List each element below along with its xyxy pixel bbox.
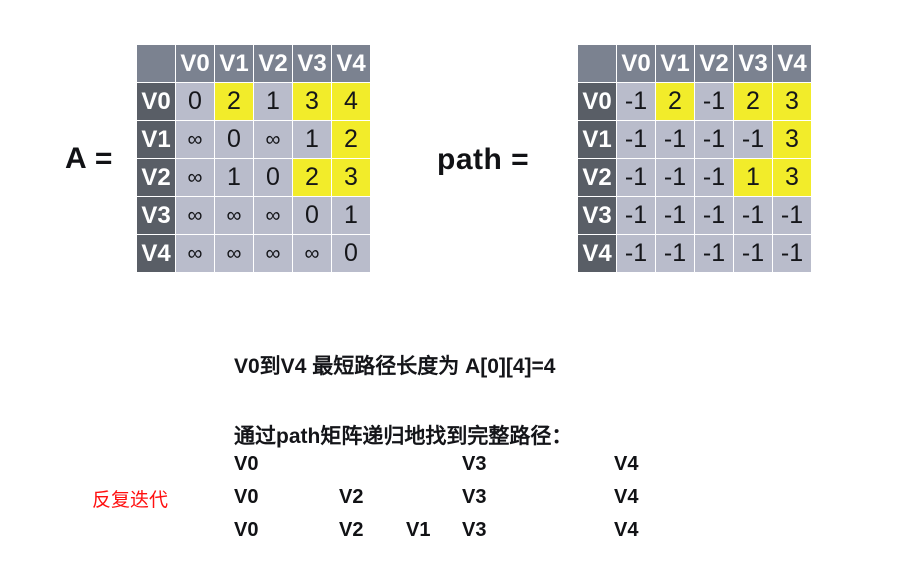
matrix-row-header-v3: V3 [137,197,175,234]
matrix-row: V2∞1023 [137,159,370,196]
path-node-v0: V0 [234,486,258,509]
matrix-row: V3-1-1-1-1-1 [578,197,811,234]
matrix-col-header-v0: V0 [176,45,214,82]
matrix-cell-1-4: 2 [332,121,370,158]
matrix-cell-2-1: -1 [656,159,694,196]
path-node-v2: V2 [339,486,363,509]
path-node-v3: V3 [462,486,486,509]
matrix-cell-3-4: 1 [332,197,370,234]
matrix-row-header-v4: V4 [137,235,175,272]
matrix-cell-2-4: 3 [773,159,811,196]
matrix-row: V1∞0∞12 [137,121,370,158]
matrix-cell-1-3: 1 [293,121,331,158]
path-expansion-row: V0V2V1V3V4 [234,519,674,552]
red-annotation: 反复迭代 [92,485,168,512]
matrix-cell-0-1: 2 [215,83,253,120]
path-node-v0: V0 [234,519,258,542]
matrix-cell-4-4: -1 [773,235,811,272]
matrix-cell-2-3: 2 [293,159,331,196]
matrix-cell-0-1: 2 [656,83,694,120]
matrix-cell-2-0: ∞ [176,159,214,196]
matrix-row: V1-1-1-1-13 [578,121,811,158]
matrix-cell-3-0: -1 [617,197,655,234]
shortest-path-note: V0到V4 最短路径长度为 A[0][4]=4 [234,350,555,380]
matrix-col-header-v1: V1 [215,45,253,82]
matrix-row: V3∞∞∞01 [137,197,370,234]
path-node-v3: V3 [462,519,486,542]
matrix-cell-4-3: -1 [734,235,772,272]
matrix-cell-4-4: 0 [332,235,370,272]
matrix-row-header-v2: V2 [578,159,616,196]
path-node-v3: V3 [462,453,486,476]
matrix-cell-1-1: 0 [215,121,253,158]
path-node-v4: V4 [614,453,638,476]
matrix-cell-0-2: -1 [695,83,733,120]
matrix-row-header-v0: V0 [137,83,175,120]
matrix-cell-3-3: -1 [734,197,772,234]
matrix-row-header-v2: V2 [137,159,175,196]
matrix-cell-0-4: 3 [773,83,811,120]
matrix-row: V4∞∞∞∞0 [137,235,370,272]
matrix-cell-0-3: 2 [734,83,772,120]
matrix-cell-4-2: -1 [695,235,733,272]
matrix-cell-4-0: ∞ [176,235,214,272]
matrix-col-header-v4: V4 [773,45,811,82]
matrix-col-header-v3: V3 [734,45,772,82]
matrix-cell-3-2: -1 [695,197,733,234]
matrix-col-header-v2: V2 [695,45,733,82]
matrix-cell-2-2: -1 [695,159,733,196]
matrix-cell-3-3: 0 [293,197,331,234]
path-node-v4: V4 [614,486,638,509]
matrix-col-header-v0: V0 [617,45,655,82]
path-expansion-row: V0V2V3V4 [234,486,674,519]
path-node-v1: V1 [406,519,430,542]
matrix-a: V0V1V2V3V4V002134V1∞0∞12V2∞1023V3∞∞∞01V4… [136,44,371,273]
matrix-corner-cell [578,45,616,82]
matrix-col-header-v2: V2 [254,45,292,82]
matrix-row-header-v1: V1 [578,121,616,158]
matrix-row: V002134 [137,83,370,120]
matrix-cell-4-0: -1 [617,235,655,272]
matrix-cell-0-4: 4 [332,83,370,120]
matrix-cell-3-1: ∞ [215,197,253,234]
path-node-v0: V0 [234,453,258,476]
matrix-a-table: V0V1V2V3V4V002134V1∞0∞12V2∞1023V3∞∞∞01V4… [136,44,371,273]
matrix-col-header-v1: V1 [656,45,694,82]
matrix-cell-3-0: ∞ [176,197,214,234]
matrix-corner-cell [137,45,175,82]
matrix-cell-4-2: ∞ [254,235,292,272]
matrix-cell-2-1: 1 [215,159,253,196]
path-node-v2: V2 [339,519,363,542]
matrix-cell-3-2: ∞ [254,197,292,234]
matrix-cell-1-0: ∞ [176,121,214,158]
matrix-cell-1-0: -1 [617,121,655,158]
matrix-header-row: V0V1V2V3V4 [137,45,370,82]
matrix-row: V0-12-123 [578,83,811,120]
matrix-cell-1-4: 3 [773,121,811,158]
path-node-v4: V4 [614,519,638,542]
matrix-cell-2-2: 0 [254,159,292,196]
matrix-cell-2-3: 1 [734,159,772,196]
matrix-cell-0-0: 0 [176,83,214,120]
matrix-cell-1-2: -1 [695,121,733,158]
matrix-row-header-v1: V1 [137,121,175,158]
matrix-col-header-v3: V3 [293,45,331,82]
matrix-cell-4-3: ∞ [293,235,331,272]
matrix-row-header-v3: V3 [578,197,616,234]
matrix-path-label: path = [437,143,529,177]
path-expansion-row: V0V3V4 [234,453,674,486]
matrix-cell-4-1: ∞ [215,235,253,272]
matrix-cell-3-4: -1 [773,197,811,234]
matrix-cell-0-0: -1 [617,83,655,120]
matrix-row-header-v0: V0 [578,83,616,120]
matrix-cell-1-3: -1 [734,121,772,158]
matrix-path: V0V1V2V3V4V0-12-123V1-1-1-1-13V2-1-1-113… [577,44,812,273]
matrix-cell-3-1: -1 [656,197,694,234]
matrix-cell-0-3: 3 [293,83,331,120]
path-expansion: V0V3V4V0V2V3V4V0V2V1V3V4 [234,453,674,552]
matrix-row: V2-1-1-113 [578,159,811,196]
matrix-cell-4-1: -1 [656,235,694,272]
matrix-a-label: A = [65,142,113,176]
matrix-header-row: V0V1V2V3V4 [578,45,811,82]
matrix-cell-1-2: ∞ [254,121,292,158]
matrix-cell-0-2: 1 [254,83,292,120]
matrix-cell-2-0: -1 [617,159,655,196]
matrix-cell-1-1: -1 [656,121,694,158]
matrix-col-header-v4: V4 [332,45,370,82]
matrix-path-table: V0V1V2V3V4V0-12-123V1-1-1-1-13V2-1-1-113… [577,44,812,273]
matrix-row: V4-1-1-1-1-1 [578,235,811,272]
matrix-cell-2-4: 3 [332,159,370,196]
recursive-path-note: 通过path矩阵递归地找到完整路径： [234,420,572,450]
matrix-row-header-v4: V4 [578,235,616,272]
